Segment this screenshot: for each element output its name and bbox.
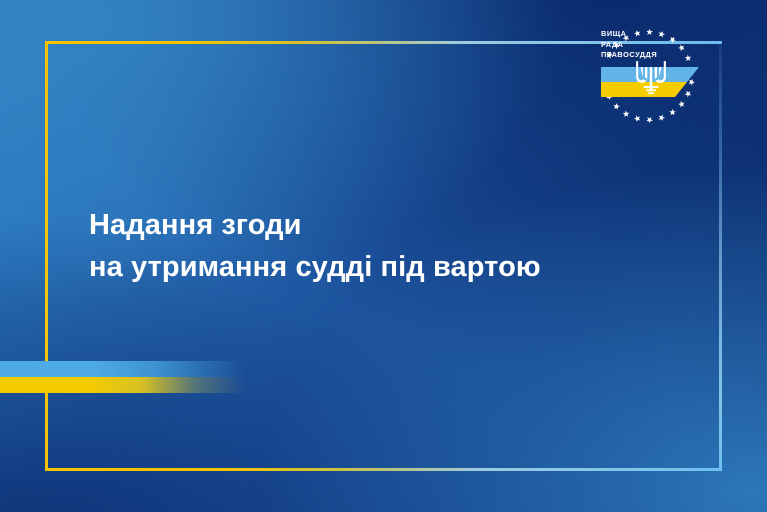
frame-bottom-line bbox=[45, 468, 722, 471]
page-title-line-1: Надання згоди bbox=[89, 204, 649, 246]
frame-right-line bbox=[719, 41, 722, 471]
slide-canvas: Надання згоди на утримання судді під вар… bbox=[0, 0, 767, 512]
logo-wordmark-line-3: ПРАВОСУДДЯ bbox=[601, 50, 657, 61]
logo-wordmark: ВИЩА РАДА ПРАВОСУДДЯ bbox=[601, 29, 657, 61]
frame-left-line bbox=[45, 41, 48, 471]
organization-logo: ВИЩА РАДА ПРАВОСУДДЯ bbox=[588, 18, 718, 136]
flag-band-yellow-stripe bbox=[0, 377, 245, 393]
flag-band-blue-stripe bbox=[0, 361, 245, 377]
logo-wordmark-line-1: ВИЩА bbox=[601, 29, 657, 40]
page-title: Надання згоди на утримання судді під вар… bbox=[89, 204, 649, 288]
page-title-line-2: на утримання судді під вартою bbox=[89, 246, 649, 288]
logo-wordmark-line-2: РАДА bbox=[601, 40, 657, 51]
flag-band bbox=[0, 361, 245, 393]
